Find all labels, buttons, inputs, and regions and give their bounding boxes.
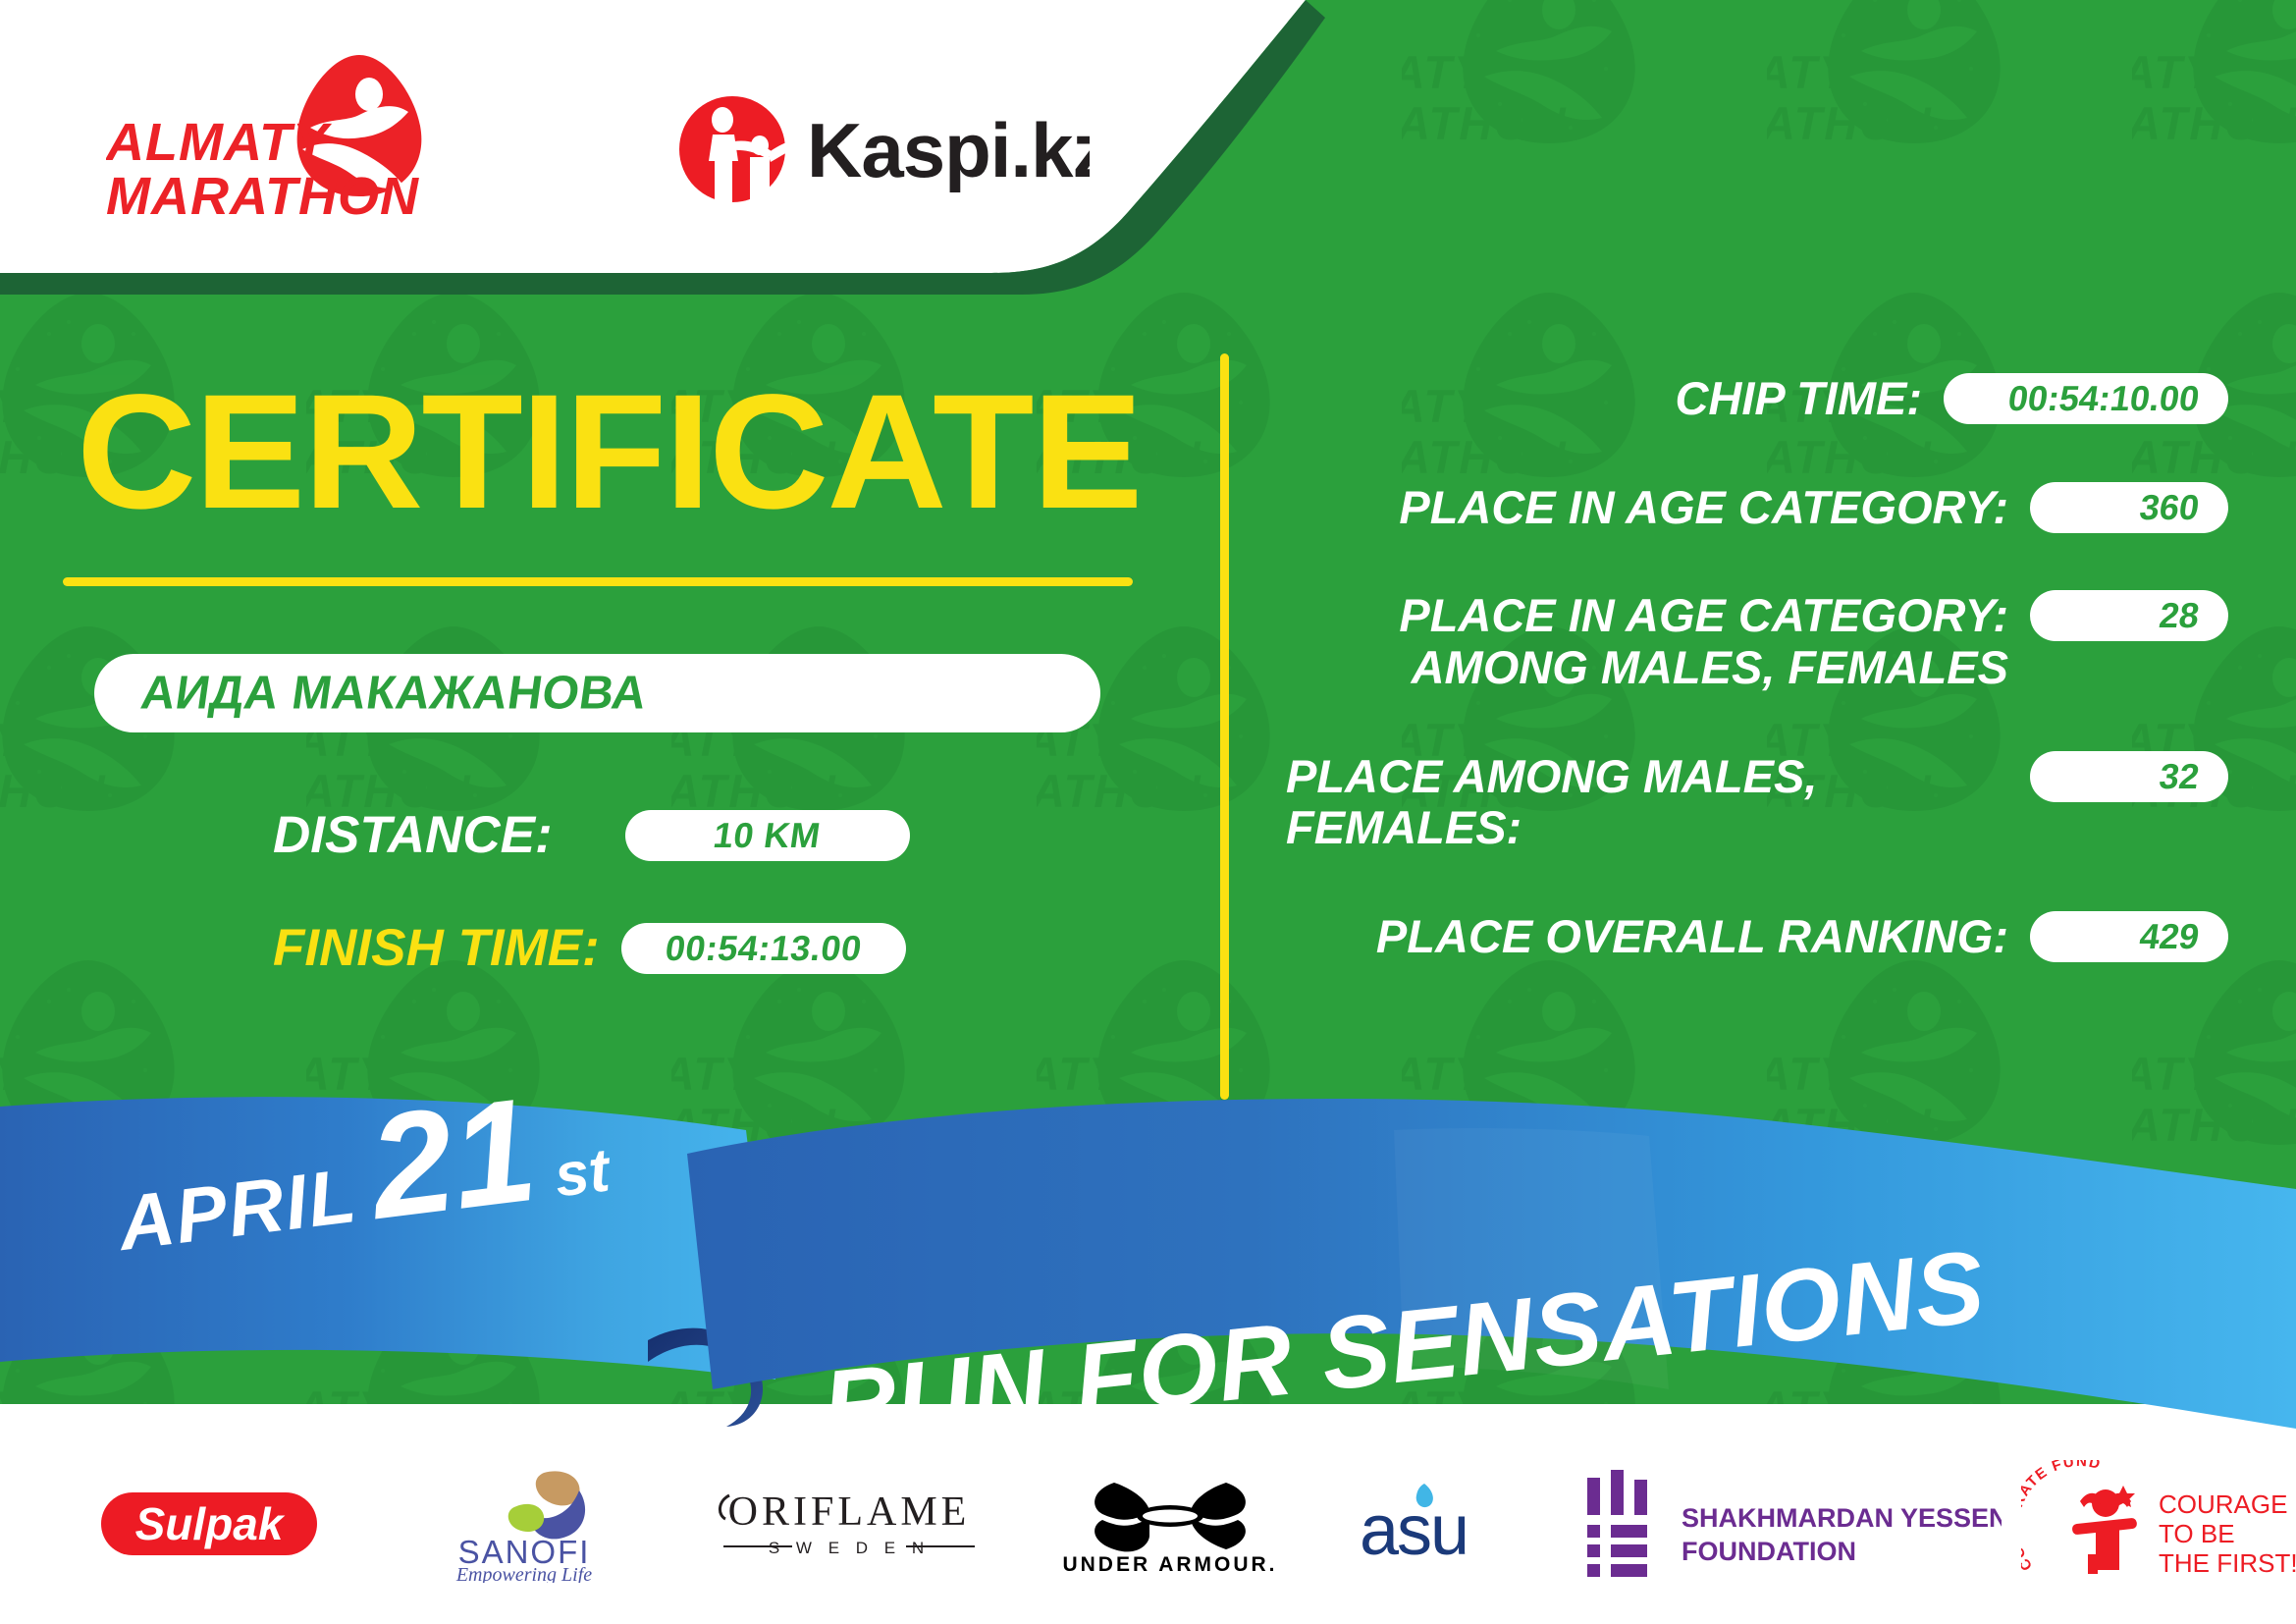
sponsor-oriflame-label: ORIFLAME [728, 1489, 971, 1535]
sponsor-sanofi: SANOFI Empowering Life [388, 1465, 661, 1583]
place-age-value-pill: 360 [2030, 482, 2228, 533]
chip-time-label: CHIP TIME: [1286, 373, 1922, 425]
certificate-page: ALMATY MARATHON ALMATY MARATHON [0, 0, 2296, 1624]
place-age-value: 360 [2137, 487, 2202, 528]
sponsor-sanofi-tagline: Empowering Life [455, 1564, 592, 1583]
kaspi-logo: Kaspi.kz [677, 90, 1090, 208]
event-day: 21 [363, 1083, 542, 1234]
finish-time-value: 00:54:13.00 [663, 928, 865, 969]
results-panel: CHIP TIME: 00:54:10.00 PLACE IN AGE CATE… [1286, 373, 2228, 962]
overall-rank-value-pill: 429 [2030, 911, 2228, 962]
chip-time-value-pill: 00:54:10.00 [1944, 373, 2228, 424]
overall-rank-label: PLACE OVERALL RANKING: [1286, 911, 2008, 963]
finish-time-row: FINISH TIME: 00:54:13.00 [273, 918, 906, 978]
almaty-logo-line1: ALMATY [106, 113, 333, 172]
finish-time-value-pill: 00:54:13.00 [621, 923, 906, 974]
sponsor-yessenov-line1: SHAKHMARDAN YESSENOV [1682, 1503, 2002, 1533]
sponsor-courage-line1: COURAGE [2159, 1489, 2287, 1519]
sponsor-yessenov-line2: FOUNDATION [1682, 1537, 1856, 1566]
sponsor-oriflame: ORIFLAME S W E D E N [700, 1480, 999, 1568]
almaty-marathon-logo: ALMATY MARATHON [106, 47, 430, 219]
sponsor-bar: Sulpak SANOFI Empowering Life ORIFLAME S… [0, 1424, 2296, 1624]
result-row-chip-time: CHIP TIME: 00:54:10.00 [1286, 373, 2228, 425]
distance-row: DISTANCE: 10 KM [273, 805, 910, 865]
distance-value: 10 KM [711, 815, 823, 856]
sponsor-asu: asu [1341, 1480, 1550, 1568]
result-row-overall: PLACE OVERALL RANKING: 429 [1286, 911, 2228, 963]
certificate-header: ALMATY MARATHON Kaspi.kz [0, 0, 1335, 275]
sponsor-under-armour-label: UNDER ARMOUR. [1063, 1553, 1278, 1573]
event-day-ordinal: st [551, 1135, 613, 1211]
place-gender-value-pill: 32 [2030, 751, 2228, 802]
sponsor-asu-label: asu [1360, 1491, 1468, 1568]
place-age-gender-value: 28 [2157, 595, 2202, 636]
sponsor-oriflame-tagline: S W E D E N [769, 1539, 930, 1557]
almaty-logo-line2: MARATHON [106, 167, 419, 219]
distance-value-pill: 10 KM [625, 810, 910, 861]
athlete-name-field: АИДА МАКАЖАНОВА [94, 654, 1100, 732]
sponsor-courage-to-be-the-first: CORPORATE FUND COURAGE TO BE THE FIRST! [2021, 1460, 2296, 1588]
sponsor-courage-line2: TO BE [2159, 1519, 2235, 1548]
sponsor-sulpak-label: Sulpak [134, 1498, 285, 1549]
sponsor-courage-line3: THE FIRST! [2159, 1548, 2296, 1578]
result-row-place-age-gender: PLACE IN AGE CATEGORY: AMONG MALES, FEMA… [1286, 590, 2228, 693]
place-gender-value: 32 [2157, 756, 2202, 797]
sponsor-under-armour: UNDER ARMOUR. [1039, 1475, 1302, 1573]
kaspi-wordmark: Kaspi.kz [807, 107, 1090, 193]
overall-rank-value: 429 [2137, 916, 2202, 957]
place-age-gender-label: PLACE IN AGE CATEGORY: AMONG MALES, FEMA… [1286, 590, 2008, 693]
place-age-gender-value-pill: 28 [2030, 590, 2228, 641]
chip-time-value: 00:54:10.00 [2005, 378, 2202, 419]
title-underline [63, 577, 1133, 586]
sponsor-sulpak: Sulpak [59, 1485, 358, 1563]
result-row-place-gender: PLACE AMONG MALES, FEMALES: 32 [1286, 751, 2228, 854]
column-divider [1220, 353, 1229, 1100]
place-age-label: PLACE IN AGE CATEGORY: [1286, 482, 2008, 534]
page-title: CERTIFICATE [77, 371, 1141, 534]
finish-time-label: FINISH TIME: [273, 918, 600, 978]
athlete-name-value: АИДА МАКАЖАНОВА [137, 667, 650, 721]
distance-label: DISTANCE: [273, 805, 553, 865]
result-row-place-age: PLACE IN AGE CATEGORY: 360 [1286, 482, 2228, 534]
place-gender-label: PLACE AMONG MALES, FEMALES: [1286, 751, 2008, 854]
sponsor-yessenov-foundation: SHAKHMARDAN YESSENOV FOUNDATION [1579, 1470, 2002, 1578]
